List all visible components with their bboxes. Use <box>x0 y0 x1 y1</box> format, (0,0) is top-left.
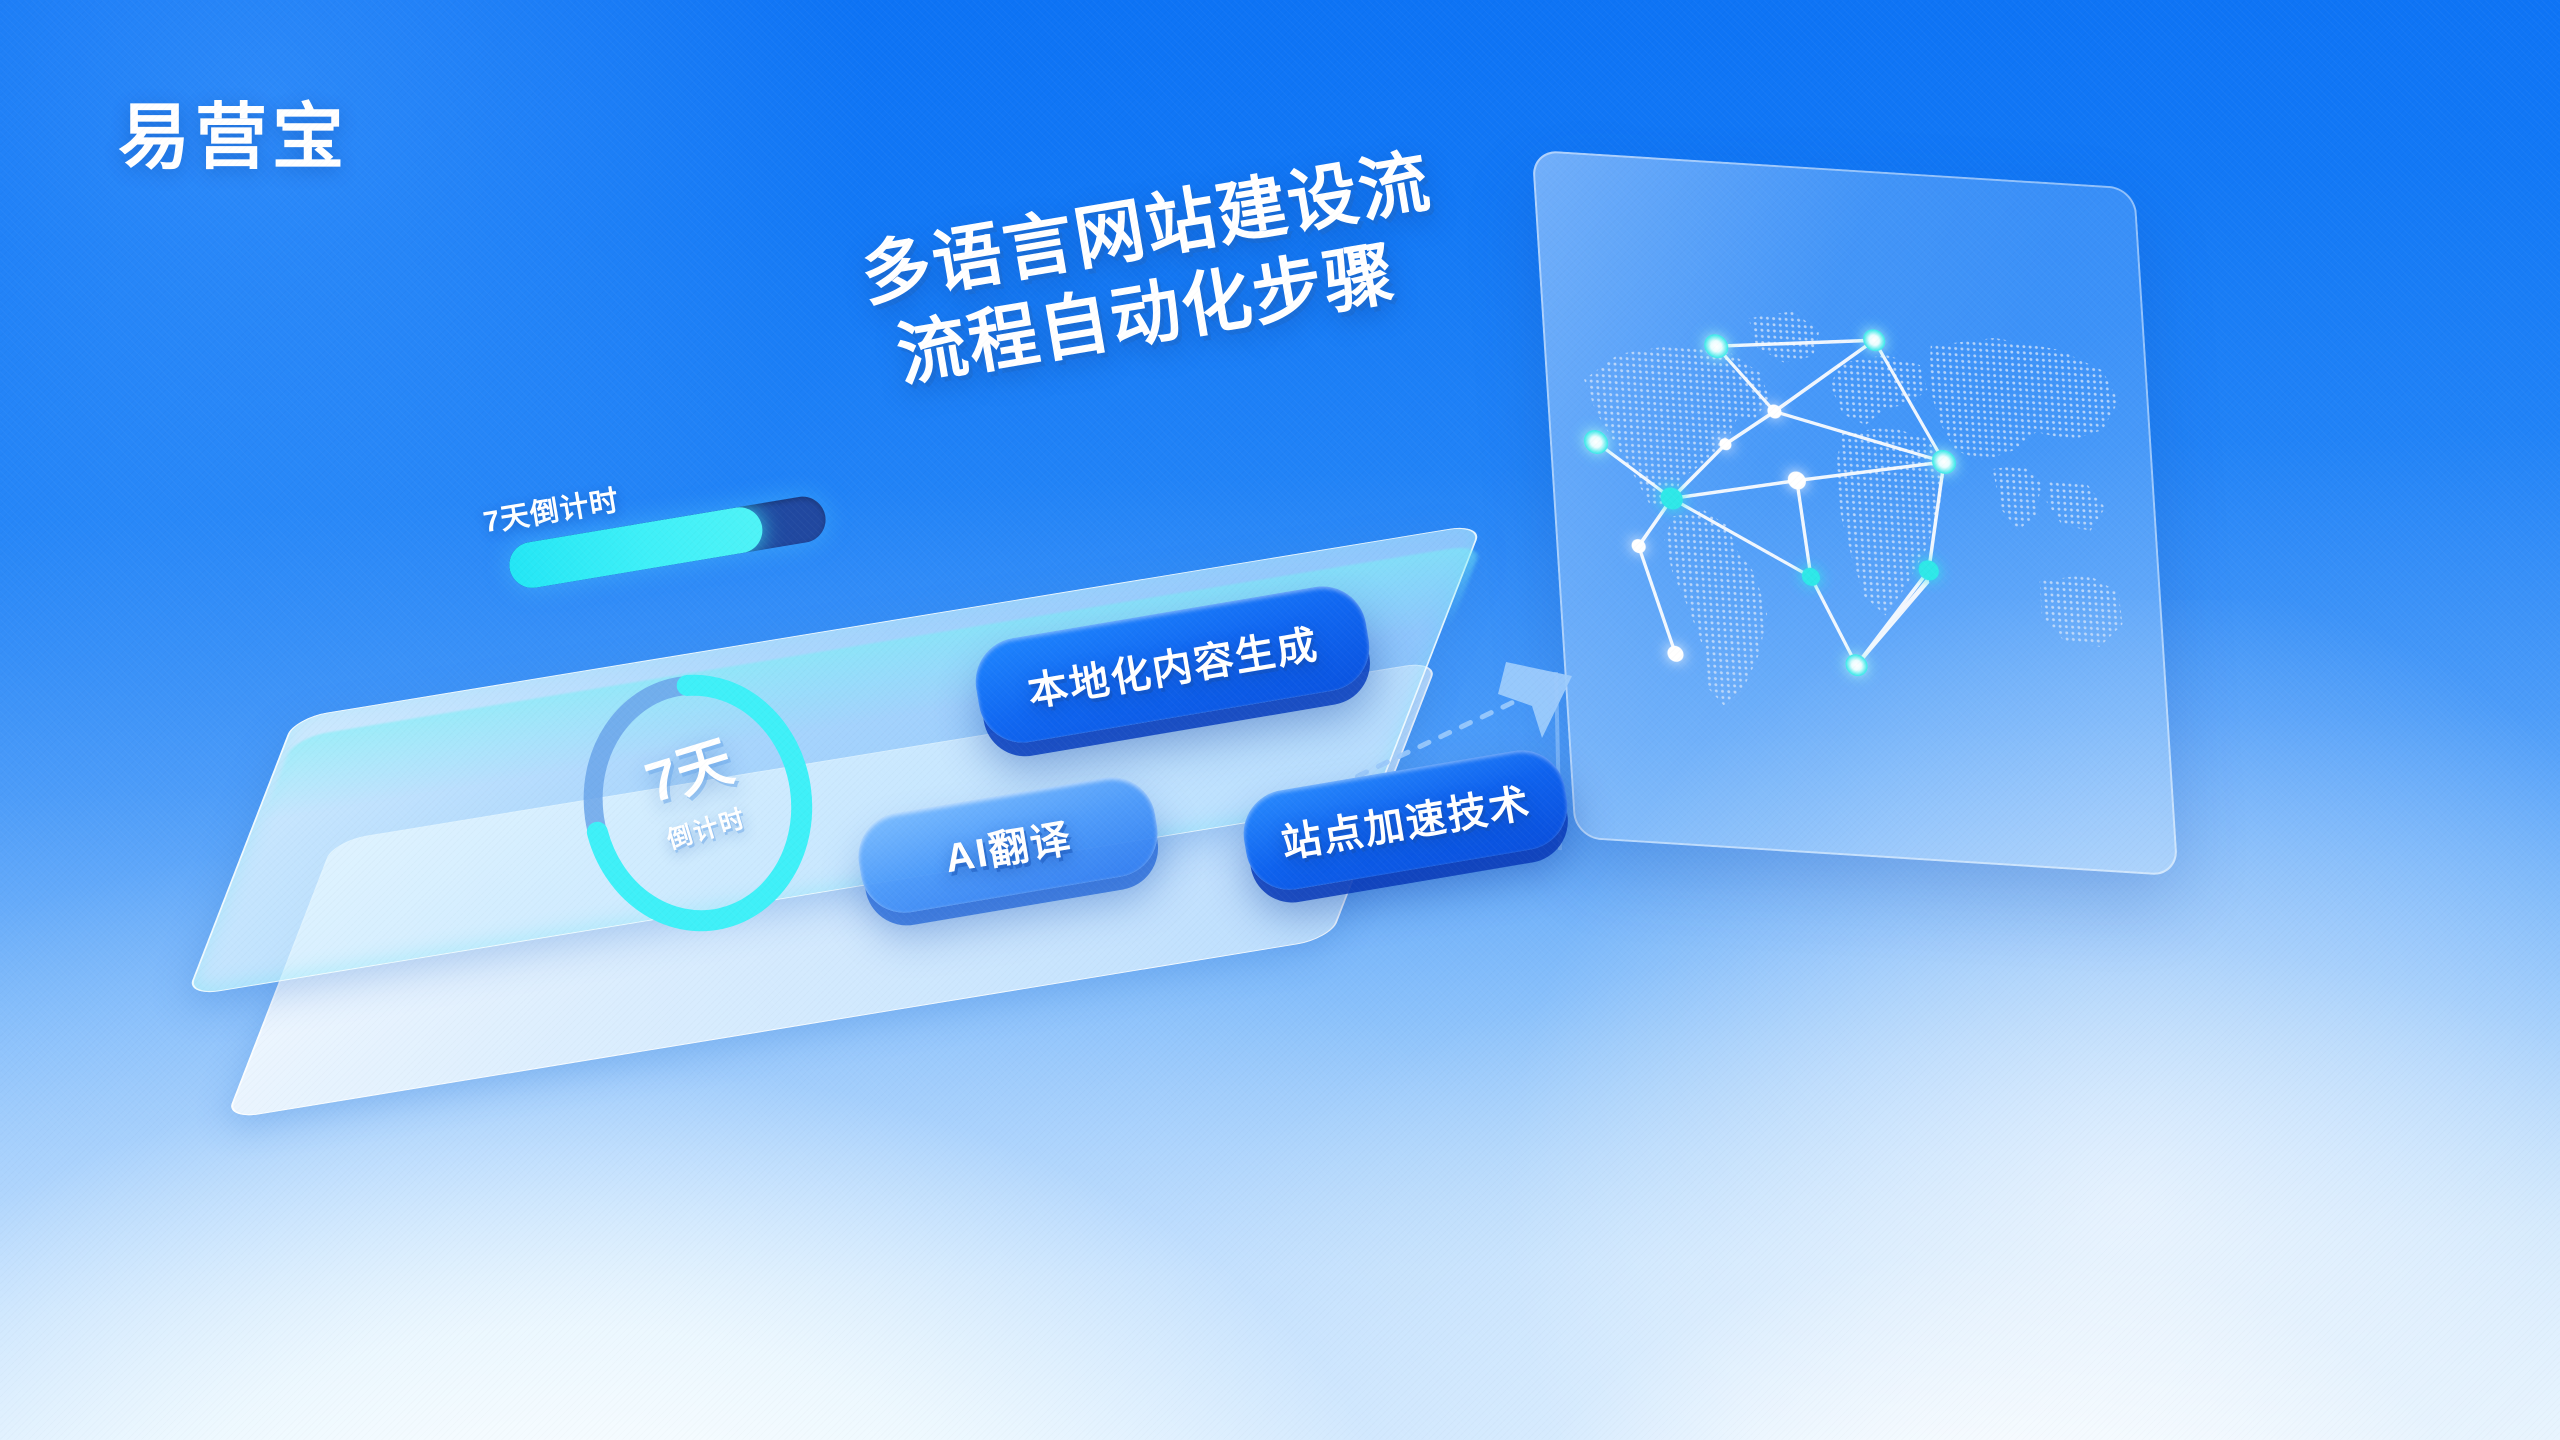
countdown-ring: 7天 倒计时 <box>548 638 846 961</box>
feature-pill-label: 站点加速技术 <box>1276 770 1534 869</box>
countdown-progress: 7天倒计时 <box>479 440 844 616</box>
poster-canvas: 7天倒计时 7天 倒计时 本地化内容生成 AI翻译 站点加速技术 多语言网站建设… <box>0 0 2560 1440</box>
brand-logo[interactable]: 易营宝 <box>118 78 349 183</box>
feature-pill-label: AI翻译 <box>940 806 1076 885</box>
